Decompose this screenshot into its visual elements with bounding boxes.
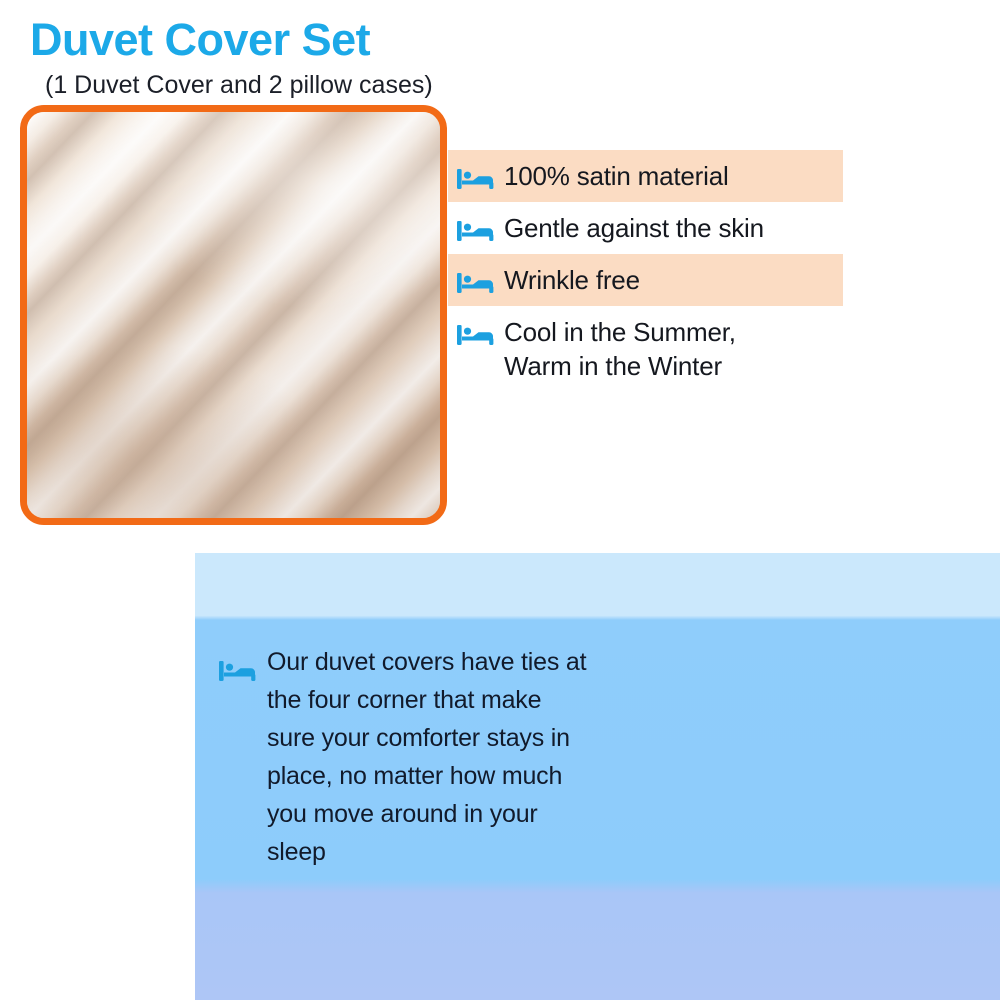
feature-list: 100% satin material Gentle against the s…: [448, 150, 848, 392]
satin-fabric-sheen: [27, 112, 440, 518]
feature-label-line2: Warm in the Winter: [504, 349, 736, 383]
bed-icon: [456, 163, 496, 193]
bed-icon: [456, 319, 496, 349]
ties-description: Our duvet covers have ties at the four c…: [267, 643, 592, 871]
page-title: Duvet Cover Set: [30, 14, 370, 66]
ties-info-panel: Our duvet covers have ties at the four c…: [195, 553, 1000, 1000]
feature-label: Wrinkle free: [504, 263, 640, 297]
feature-label: 100% satin material: [504, 159, 729, 193]
feature-item-wrinkle-free: Wrinkle free: [448, 254, 843, 306]
bed-icon: [456, 267, 496, 297]
feature-label: Gentle against the skin: [504, 211, 764, 245]
feature-label-multiline: Cool in the Summer, Warm in the Winter: [504, 315, 736, 383]
page-subtitle: (1 Duvet Cover and 2 pillow cases): [45, 70, 433, 100]
satin-fabric-photo: [20, 105, 447, 525]
ties-copy-block: Our duvet covers have ties at the four c…: [217, 643, 592, 871]
feature-label-line1: Cool in the Summer,: [504, 317, 736, 347]
bed-icon: [456, 215, 496, 245]
bed-icon: [217, 655, 259, 685]
infographic-canvas: Duvet Cover Set (1 Duvet Cover and 2 pil…: [0, 0, 1000, 1000]
feature-item-satin-material: 100% satin material: [448, 150, 843, 202]
feature-item-gentle-skin: Gentle against the skin: [448, 202, 843, 254]
feature-item-temperature: Cool in the Summer, Warm in the Winter: [448, 306, 843, 392]
